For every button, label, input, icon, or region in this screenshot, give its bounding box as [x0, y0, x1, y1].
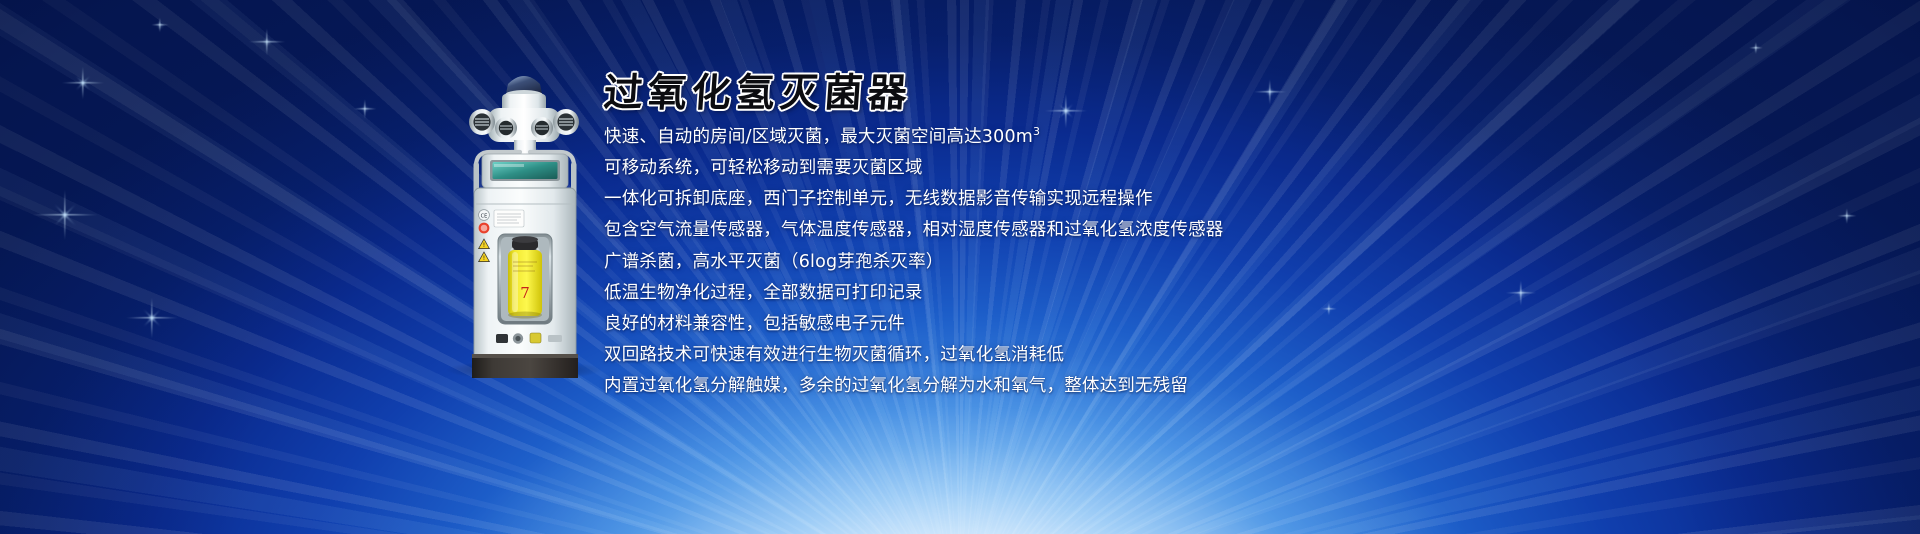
feature-text: 良好的材料兼容性，包括敏感电子元件 [604, 314, 905, 334]
feature-text: 低温生物净化过程，全部数据可打印记录 [604, 283, 923, 303]
feature-item: 包含空气流量传感器，气体温度传感器，相对湿度传感器和过氧化氢浓度传感器 [604, 215, 1304, 246]
feature-item: 良好的材料兼容性，包括敏感电子元件 [604, 309, 1304, 340]
feature-text: 内置过氧化氢分解触媒，多余的过氧化氢分解为水和氧气，整体达到无残留 [604, 376, 1188, 396]
feature-text: 一体化可拆卸底座，西门子控制单元，无线数据影音传输实现远程操作 [604, 189, 1153, 209]
feature-item: 可移动系统，可轻松移动到需要灭菌区域 [604, 153, 1304, 184]
feature-item: 内置过氧化氢分解触媒，多余的过氧化氢分解为水和氧气，整体达到无残留 [604, 371, 1304, 402]
feature-list: 快速、自动的房间/区域灭菌，最大灭菌空间高达300m3 可移动系统，可轻松移动到… [604, 116, 1304, 403]
feature-superscript: 3 [1033, 125, 1040, 138]
feature-item: 快速、自动的房间/区域灭菌，最大灭菌空间高达300m3 [604, 116, 1304, 153]
feature-item: 双回路技术可快速有效进行生物灭菌循环，过氧化氢消耗低 [604, 340, 1304, 371]
page-title: 过氧化氢灭菌器 [602, 62, 914, 118]
feature-item: 低温生物净化过程，全部数据可打印记录 [604, 278, 1304, 309]
feature-text: 可移动系统，可轻松移动到需要灭菌区域 [604, 158, 923, 178]
feature-text: 包含空气流量传感器，气体温度传感器，相对湿度传感器和过氧化氢浓度传感器 [604, 220, 1224, 240]
feature-text: 双回路技术可快速有效进行生物灭菌循环，过氧化氢消耗低 [604, 345, 1064, 365]
feature-item: 一体化可拆卸底座，西门子控制单元，无线数据影音传输实现远程操作 [604, 184, 1304, 215]
feature-item: 广谱杀菌，高水平灭菌（6log芽孢杀灭率） [604, 247, 1304, 278]
product-banner: CE ! ! [0, 0, 1920, 534]
feature-text: 快速、自动的房间/区域灭菌，最大灭菌空间高达300m [604, 127, 1033, 147]
feature-text: 广谱杀菌，高水平灭菌（6log芽孢杀灭率） [604, 252, 944, 272]
